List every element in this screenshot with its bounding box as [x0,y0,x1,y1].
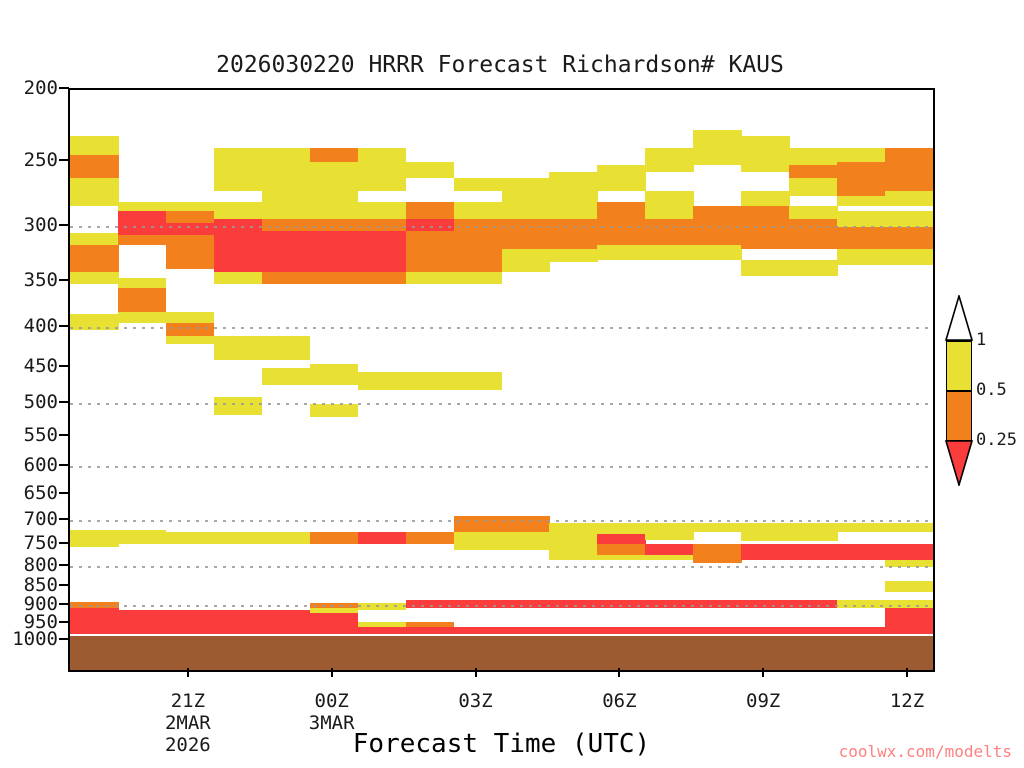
y-axis-tick-label: 750 [24,532,58,554]
heatmap-cell [166,610,215,636]
heatmap-cell [118,278,167,288]
colorbar-tick-label: 0.25 [976,430,1017,450]
heatmap-cell [406,532,455,544]
heatmap-cell [741,222,790,249]
heatmap-cell [645,148,694,173]
y-axis-tick [59,542,69,544]
heatmap-cell [166,336,215,344]
heatmap-cell [789,532,838,542]
heatmap-plot-area [68,88,935,672]
y-axis-tick [59,365,69,367]
heatmap-cell [454,532,503,551]
heatmap-cell [549,172,598,206]
heatmap-cell [310,364,359,385]
y-axis-tick [59,621,69,623]
heatmap-cell [454,516,503,532]
heatmap-cell [789,260,838,275]
heatmap-cell [789,165,838,178]
heatmap-cell [741,191,790,207]
heatmap-cell [214,397,263,415]
heatmap-cell [645,219,694,244]
y-axis-tick [59,464,69,466]
heatmap-cell [645,523,694,531]
heatmap-cell [789,600,838,607]
heatmap-cell [310,404,359,417]
heatmap-cell [597,165,646,191]
heatmap-cell [406,162,455,178]
chart-title: 2026030220 HRRR Forecast Richardson# KAU… [0,52,1000,78]
heatmap-cell [549,534,598,544]
heatmap-cell [597,544,646,555]
heatmap-cell [262,231,311,272]
heatmap-cell [885,148,934,160]
heatmap-cell [885,600,934,607]
heatmap-cell [741,523,790,531]
heatmap-cell [310,532,359,544]
x-axis-tick-label: 00Z 3MAR [309,690,355,734]
heatmap-cell [406,219,455,231]
heatmap-cell [118,530,167,544]
y-axis-tick [59,87,69,89]
terrain-band [70,636,933,670]
heatmap-cell [118,288,167,312]
heatmap-cell [166,223,215,235]
heatmap-cell [789,523,838,531]
heatmap-cell [214,610,263,636]
heatmap-cell [214,272,263,284]
y-axis-tick-label: 500 [24,391,58,413]
heatmap-cell [262,532,311,544]
heatmap-cell [502,532,551,551]
heatmap-cell [262,148,311,220]
heatmap-cell [502,178,551,203]
y-axis-tick-label: 400 [24,315,58,337]
heatmap-cell [597,245,646,260]
heatmap-cell [741,600,790,607]
heatmap-cell [837,544,886,560]
x-axis-tick-label: 06Z [602,690,636,712]
heatmap-cell [837,523,886,531]
heatmap-cell [502,600,551,607]
heatmap-cell [70,136,119,155]
heatmap-cell [741,206,790,222]
heatmap-cell [406,600,455,607]
heatmap-cell [454,372,503,390]
heatmap-cell [166,312,215,323]
heatmap-cell [262,272,311,284]
heatmap-cell [262,219,311,231]
heatmap-cell [597,202,646,219]
y-axis-tick [59,401,69,403]
y-axis-tick-label: 200 [24,77,58,99]
credit-watermark: coolwx.com/modelts [839,742,1012,761]
heatmap-cell [118,202,167,211]
heatmap-cell [310,272,359,284]
heatmap-cell [693,600,742,607]
heatmap-cell [693,130,742,164]
heatmap-cell [166,323,215,337]
y-axis-tick-label: 250 [24,149,58,171]
y-axis-tick-label: 600 [24,454,58,476]
heatmap-cell [454,249,503,272]
heatmap-cell [885,560,934,567]
y-axis-tick [59,224,69,226]
heatmap-cell [454,613,503,627]
y-axis-tick-label: 700 [24,508,58,530]
x-axis-tick [762,668,764,677]
richardson-number-colorbar[interactable]: 10.50.25 [946,296,1024,481]
heatmap-cell [70,272,119,284]
colorbar-divider [946,390,972,392]
heatmap-cell [789,178,838,196]
heatmap-cell [693,222,742,245]
heatmap-cell [406,202,455,219]
heatmap-cell [741,260,790,275]
y-axis-tick [59,159,69,161]
y-axis-tick [59,518,69,520]
heatmap-cell [502,516,551,532]
x-axis-tick [618,668,620,677]
heatmap-cell [310,148,359,162]
heatmap-cell [406,272,455,284]
heatmap-cell [118,235,167,245]
heatmap-cell [837,162,886,196]
heatmap-cell [502,262,551,272]
heatmap-cell [358,372,407,390]
heatmap-cell [837,148,886,162]
heatmap-cell [597,534,646,544]
heatmap-cell [358,148,407,191]
heatmap-cell [885,608,934,636]
y-axis-tick-label: 450 [24,355,58,377]
y-axis-tick-label: 800 [24,554,58,576]
y-axis-labels: 2002503003504004505005506006507007508008… [0,88,62,672]
heatmap-cell [262,610,311,636]
heatmap-cell [741,136,790,172]
heatmap-cell [549,249,598,262]
heatmap-cell [310,613,359,636]
heatmap-cell [118,312,167,323]
heatmap-cell [837,600,886,607]
heatmap-cell [549,523,598,531]
heatmap-cell [70,608,119,636]
heatmap-cell [406,608,455,622]
y-axis-tick [59,603,69,605]
heatmap-cell [166,211,215,223]
heatmap-cell [645,532,694,541]
heatmap-cell [454,202,503,219]
heatmap-cell-layer [70,90,933,670]
x-axis-tick [187,668,189,677]
y-axis-tick [59,492,69,494]
heatmap-cell [406,249,455,272]
heatmap-cell [358,219,407,231]
heatmap-cell [214,238,263,272]
y-axis-tick [59,325,69,327]
heatmap-cell [310,219,359,231]
chart-canvas: 2026030220 HRRR Forecast Richardson# KAU… [0,0,1024,768]
y-axis-tick [59,638,69,640]
heatmap-cell [454,600,503,607]
heatmap-cell [741,544,790,560]
heatmap-cell [789,219,838,249]
heatmap-cell [549,600,598,607]
heatmap-cell [645,245,694,260]
colorbar-tick-label: 1 [976,330,986,350]
heatmap-cell [837,211,886,227]
heatmap-cell [166,202,215,211]
heatmap-cell [166,532,215,544]
heatmap-cell [454,178,503,191]
colorbar-segment[interactable] [946,340,972,390]
heatmap-cell [358,532,407,544]
heatmap-cell [597,600,646,607]
heatmap-cell [358,272,407,284]
heatmap-cell [693,206,742,222]
heatmap-cell [358,603,407,610]
heatmap-cell [118,211,167,234]
heatmap-cell [885,227,934,249]
heatmap-cell [837,249,886,264]
heatmap-cell [789,148,838,165]
heatmap-cell [885,159,934,190]
heatmap-cell [597,523,646,531]
heatmap-cell [70,178,119,207]
heatmap-cell [885,249,934,264]
heatmap-cell [358,610,407,622]
heatmap-cell [454,272,503,284]
y-axis-tick-label: 1000 [12,628,58,650]
heatmap-cell [837,227,886,249]
y-axis-tick [59,279,69,281]
x-axis-tick-label: 03Z [458,690,492,712]
heatmap-cell [262,336,311,360]
y-axis-tick [59,584,69,586]
heatmap-cell [70,245,119,273]
heatmap-cell [885,523,934,531]
heatmap-cell [693,523,742,531]
heatmap-cell [597,219,646,244]
x-axis-tick-label: 12Z [890,690,924,712]
heatmap-cell [310,162,359,219]
heatmap-cell [549,219,598,249]
heatmap-cell [502,219,551,249]
heatmap-cell [214,202,263,219]
y-axis-tick-label: 350 [24,269,58,291]
heatmap-cell [885,211,934,227]
heatmap-cell [166,235,215,269]
heatmap-cell [549,206,598,219]
heatmap-cell [358,202,407,219]
heatmap-cell [789,206,838,219]
heatmap-cell [693,245,742,260]
heatmap-cell [70,314,119,329]
x-axis-title: Forecast Time (UTC) [68,729,935,759]
colorbar-segment[interactable] [946,390,972,440]
colorbar-arrow-up-outline [945,295,973,341]
colorbar-arrow-down [945,440,973,486]
heatmap-cell [885,581,934,592]
heatmap-cell [214,219,263,238]
heatmap-cell [885,191,934,207]
heatmap-cell [454,219,503,249]
heatmap-cell [837,196,886,206]
x-axis-tick [475,668,477,677]
heatmap-cell [645,544,694,555]
heatmap-cell [70,233,119,245]
heatmap-cell [502,249,551,262]
y-axis-tick-label: 650 [24,482,58,504]
heatmap-cell [118,610,167,636]
heatmap-cell [885,544,934,560]
y-axis-tick [59,564,69,566]
heatmap-cell [262,368,311,385]
colorbar-divider [946,340,972,342]
heatmap-cell [789,544,838,560]
heatmap-cell [358,231,407,272]
colorbar-tick-label: 0.5 [976,380,1007,400]
heatmap-cell [310,231,359,272]
y-axis-tick [59,434,69,436]
heatmap-cell [502,202,551,219]
heatmap-cell [406,231,455,249]
y-axis-tick-label: 300 [24,214,58,236]
heatmap-cell [645,191,694,220]
x-axis-tick [331,668,333,677]
x-axis-tick [906,668,908,677]
heatmap-cell [70,155,119,178]
heatmap-cell [741,532,790,542]
heatmap-cell [645,600,694,607]
heatmap-cell [693,544,742,555]
heatmap-cell [214,148,263,191]
x-axis-tick-label: 09Z [746,690,780,712]
heatmap-cell [214,336,263,360]
heatmap-cell [406,372,455,390]
y-axis-tick-label: 550 [24,424,58,446]
heatmap-cell [214,532,263,544]
heatmap-cell [70,530,119,548]
